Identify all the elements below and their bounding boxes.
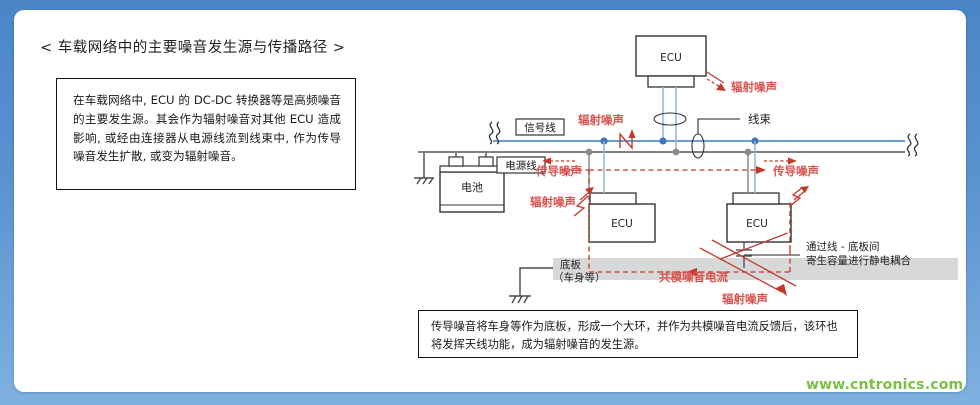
noise-path-diagram: 电池 信号线 电源线 — [0, 0, 980, 405]
bus-break-right-icon — [907, 134, 917, 156]
loop-arrow-right — [756, 166, 766, 174]
harness-label: 线束 — [748, 112, 771, 126]
ecu-left-label: ECU — [611, 218, 633, 230]
signal-line-label-box: 信号线 — [516, 119, 564, 135]
ecu-right-block: ECU — [727, 193, 791, 242]
ecu-top-block: ECU — [636, 36, 706, 87]
junction-dot-power-2 — [673, 149, 680, 156]
signal-line-label: 信号线 — [524, 121, 556, 134]
power-line-label: 电源线 — [505, 159, 537, 172]
radiated-noise-label-mid: 辐射噪声 — [578, 113, 624, 127]
connector-ellipse-top — [654, 113, 686, 125]
conducted-noise-label-left: 传导噪声 — [535, 164, 582, 178]
ground-plane-label-line2: （车身等） — [553, 271, 606, 284]
common-mode-current-label: 共模噪音电流 — [659, 270, 728, 284]
watermark: www.cntronics.com — [806, 377, 963, 393]
radiated-line-top — [707, 72, 724, 83]
capacitive-annotation-line2: 寄生容量进行静电耦合 — [806, 254, 911, 267]
capacitive-annotation-line1: 通过线 - 底板间 — [806, 240, 879, 253]
radiated-arrow-head-top — [716, 83, 726, 91]
radiated-noise-label-left: 辐射噪声 — [530, 195, 576, 209]
ecu-top-label: ECU — [660, 52, 682, 64]
radiated-arrow-head-upright — [800, 186, 809, 193]
battery-label: 电池 — [461, 181, 483, 194]
chassis-ground-symbol — [509, 268, 553, 303]
conducted-noise-label-right: 传导噪声 — [772, 164, 819, 178]
ecu-right-label: ECU — [746, 218, 768, 230]
battery-block: 电池 — [440, 157, 504, 212]
radiated-noise-label-right: 辐射噪声 — [722, 292, 768, 306]
radiated-arrow-head-mid — [629, 129, 636, 138]
harness-lead — [698, 119, 740, 134]
ecu-left-block: ECU — [589, 193, 655, 242]
screenshot-root: < 车载网络中的主要噪音发生源与传播路径 > 在车载网络中, ECU 的 DC-… — [0, 0, 980, 405]
radiated-noise-label-top: 辐射噪声 — [731, 80, 777, 94]
connector-ellipse-harness — [692, 134, 704, 158]
ground-plane-label-line1: 底板 — [560, 258, 581, 271]
junction-dot-signal-2 — [659, 137, 666, 144]
